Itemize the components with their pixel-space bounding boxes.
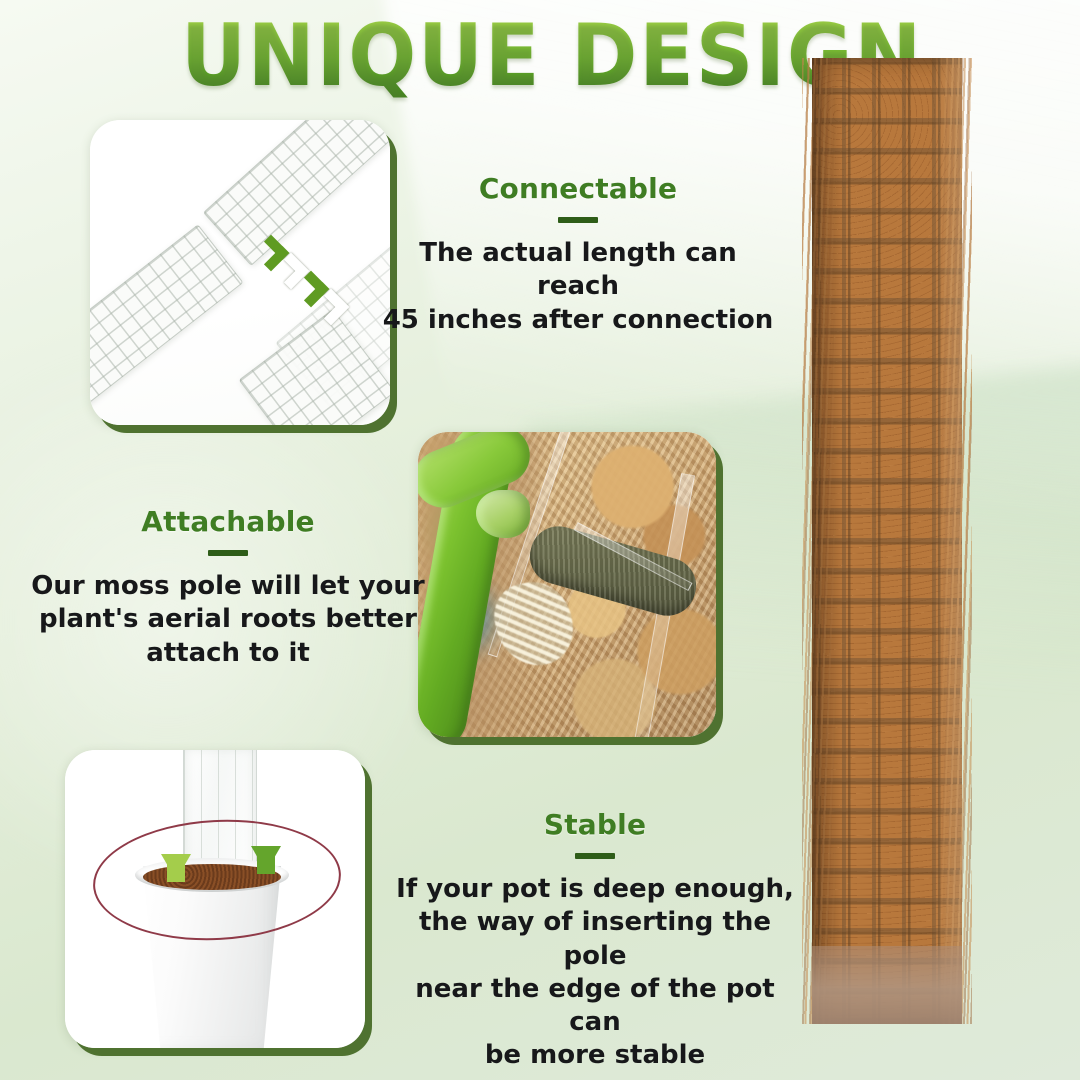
mesh-pole-section-icon: [90, 224, 244, 405]
feature-body-attachable: Our moss pole will let your plant's aeri…: [28, 570, 428, 670]
moss-shading-left: [812, 58, 845, 1024]
feature-text-stable: Stable If your pot is deep enough, the w…: [390, 808, 800, 1073]
moss-pole-bottom: [812, 946, 962, 1024]
moss-substrate-texture: [418, 432, 716, 737]
product-moss-pole: [812, 58, 962, 1024]
mesh-pole-section-icon: [203, 120, 390, 266]
moss-shading-right: [932, 58, 962, 1024]
feature-body-connectable: The actual length can reach 45 inches af…: [378, 237, 778, 337]
heading-divider: [575, 853, 615, 859]
ellipse-highlight-icon: [90, 814, 344, 947]
feature-body-stable: If your pot is deep enough, the way of i…: [390, 873, 800, 1073]
feature-heading-attachable: Attachable: [28, 505, 428, 538]
plant-node: [476, 490, 530, 538]
illustration-card-connectable: [90, 120, 390, 425]
illustration-card-stable: [65, 750, 365, 1048]
connectable-illustration: [90, 120, 390, 425]
feature-heading-stable: Stable: [390, 808, 800, 841]
stable-illustration: [65, 750, 365, 1048]
aerial-roots-photo: [418, 432, 716, 737]
feature-heading-connectable: Connectable: [378, 172, 778, 205]
heading-divider: [558, 217, 598, 223]
feature-text-connectable: Connectable The actual length can reach …: [378, 172, 778, 337]
heading-divider: [208, 550, 248, 556]
photo-card-attachable: [418, 432, 716, 737]
feature-text-attachable: Attachable Our moss pole will let your p…: [28, 505, 428, 670]
